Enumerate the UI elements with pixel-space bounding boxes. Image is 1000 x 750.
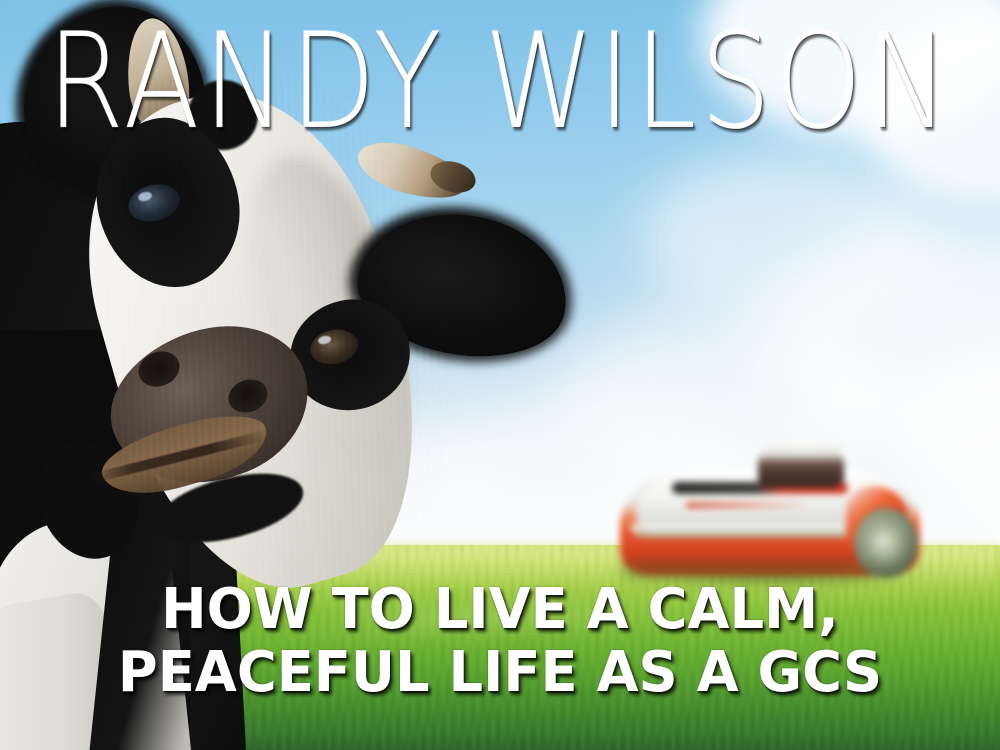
cover-subtitle: HOW TO LIVE A CALM, PEACEFUL LIFE AS A G… xyxy=(0,578,1000,704)
cover-subtitle-line-2: PEACEFUL LIFE AS A GCS xyxy=(15,641,985,704)
mower-wheel-hub xyxy=(868,524,902,564)
mower-stripe-secondary xyxy=(686,502,806,508)
mower-front-ridge xyxy=(630,524,880,538)
robotic-lawn-mower xyxy=(610,440,940,590)
cover-subtitle-line-1: HOW TO LIVE A CALM, xyxy=(15,578,985,641)
mower-sensor-cap-top xyxy=(760,440,842,456)
cover-image: RANDY WILSON HOW TO LIVE A CALM, PEACEFU… xyxy=(0,0,1000,750)
cover-title: RANDY WILSON xyxy=(5,16,995,148)
